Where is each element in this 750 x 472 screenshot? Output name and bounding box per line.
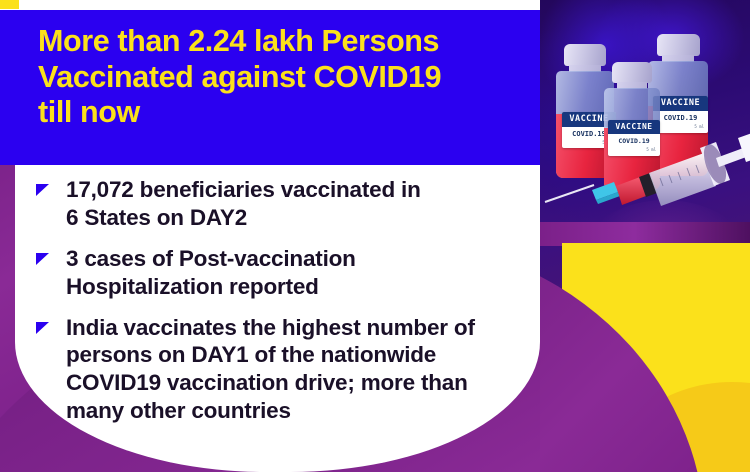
syringe-icon <box>540 0 750 240</box>
list-item: 17,072 beneficiaries vaccinated in 6 Sta… <box>34 176 522 232</box>
list-item-text: 17,072 beneficiaries vaccinated in 6 Sta… <box>66 176 522 232</box>
triangle-bullet-icon <box>36 253 49 265</box>
yellow-corner-chip <box>0 0 19 9</box>
triangle-bullet-icon <box>36 184 49 196</box>
list-item-text: 3 cases of Post-vaccination Hospitalizat… <box>66 245 522 301</box>
list-item: India vaccinates the highest number of p… <box>34 314 522 426</box>
content-column: More than 2.24 lakh Persons Vaccinated a… <box>0 0 540 472</box>
artwork-panel: VACCINE COVID.19 5 ml VACCINE COVID.19 5… <box>540 0 750 472</box>
vaccine-vials-illustration: VACCINE COVID.19 5 ml VACCINE COVID.19 5… <box>540 0 750 240</box>
title-band: More than 2.24 lakh Persons Vaccinated a… <box>0 10 540 165</box>
list-item: 3 cases of Post-vaccination Hospitalizat… <box>34 245 522 301</box>
poster-headline: More than 2.24 lakh Persons Vaccinated a… <box>38 24 526 131</box>
infographic-poster: More than 2.24 lakh Persons Vaccinated a… <box>0 0 750 472</box>
triangle-bullet-icon <box>36 322 49 334</box>
highlight-list: 17,072 beneficiaries vaccinated in 6 Sta… <box>34 176 522 438</box>
list-item-text: India vaccinates the highest number of p… <box>66 314 522 426</box>
